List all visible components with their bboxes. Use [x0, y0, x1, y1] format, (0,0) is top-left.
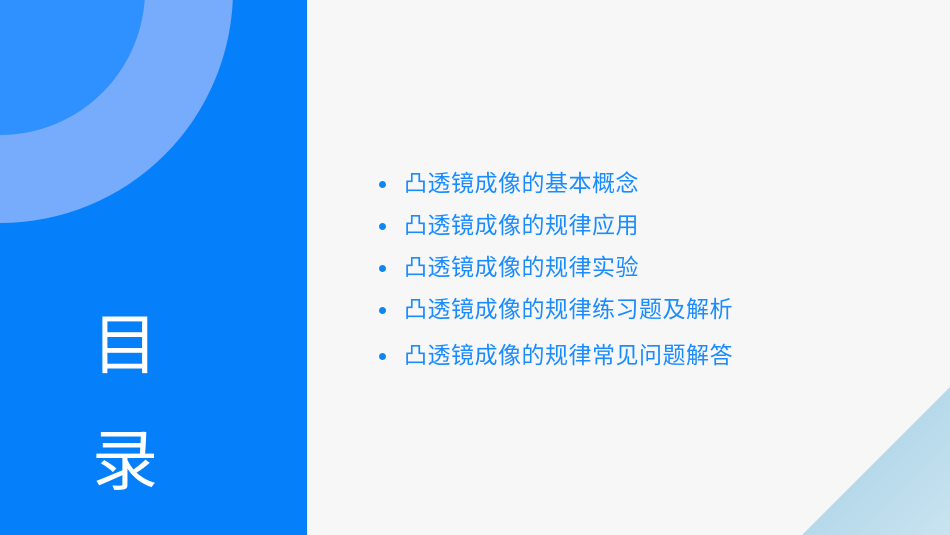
page-title-char-1: 目 [0, 288, 250, 404]
toc-item-label: 凸透镜成像的规律练习题及解析 [404, 296, 733, 324]
toc-item-label: 凸透镜成像的规律应用 [404, 212, 639, 240]
list-item[interactable]: 凸透镜成像的规律应用 [379, 205, 733, 247]
bullet-icon [379, 181, 386, 188]
table-of-contents-list: 凸透镜成像的基本概念 凸透镜成像的规律应用 凸透镜成像的规律实验 凸透镜成像的规… [379, 163, 733, 377]
list-item[interactable]: 凸透镜成像的规律常见问题解答 [379, 335, 733, 377]
corner-triangle-decoration [802, 387, 950, 535]
slide-canvas: 目 录 凸透镜成像的基本概念 凸透镜成像的规律应用 凸透镜成像的规律实验 凸透镜… [0, 0, 950, 535]
toc-item-label: 凸透镜成像的规律实验 [404, 254, 639, 282]
bullet-icon [379, 353, 386, 360]
bullet-icon [379, 307, 386, 314]
toc-item-label: 凸透镜成像的规律常见问题解答 [404, 342, 733, 370]
page-title-char-2: 录 [0, 404, 250, 520]
content-area: 凸透镜成像的基本概念 凸透镜成像的规律应用 凸透镜成像的规律实验 凸透镜成像的规… [307, 0, 950, 535]
toc-item-label: 凸透镜成像的基本概念 [404, 170, 639, 198]
page-title: 目 录 [0, 288, 250, 520]
list-item[interactable]: 凸透镜成像的基本概念 [379, 163, 733, 205]
list-item[interactable]: 凸透镜成像的规律实验 [379, 247, 733, 289]
left-blue-panel: 目 录 [0, 0, 307, 535]
bullet-icon [379, 223, 386, 230]
list-item[interactable]: 凸透镜成像的规律练习题及解析 [379, 289, 733, 331]
bullet-icon [379, 265, 386, 272]
